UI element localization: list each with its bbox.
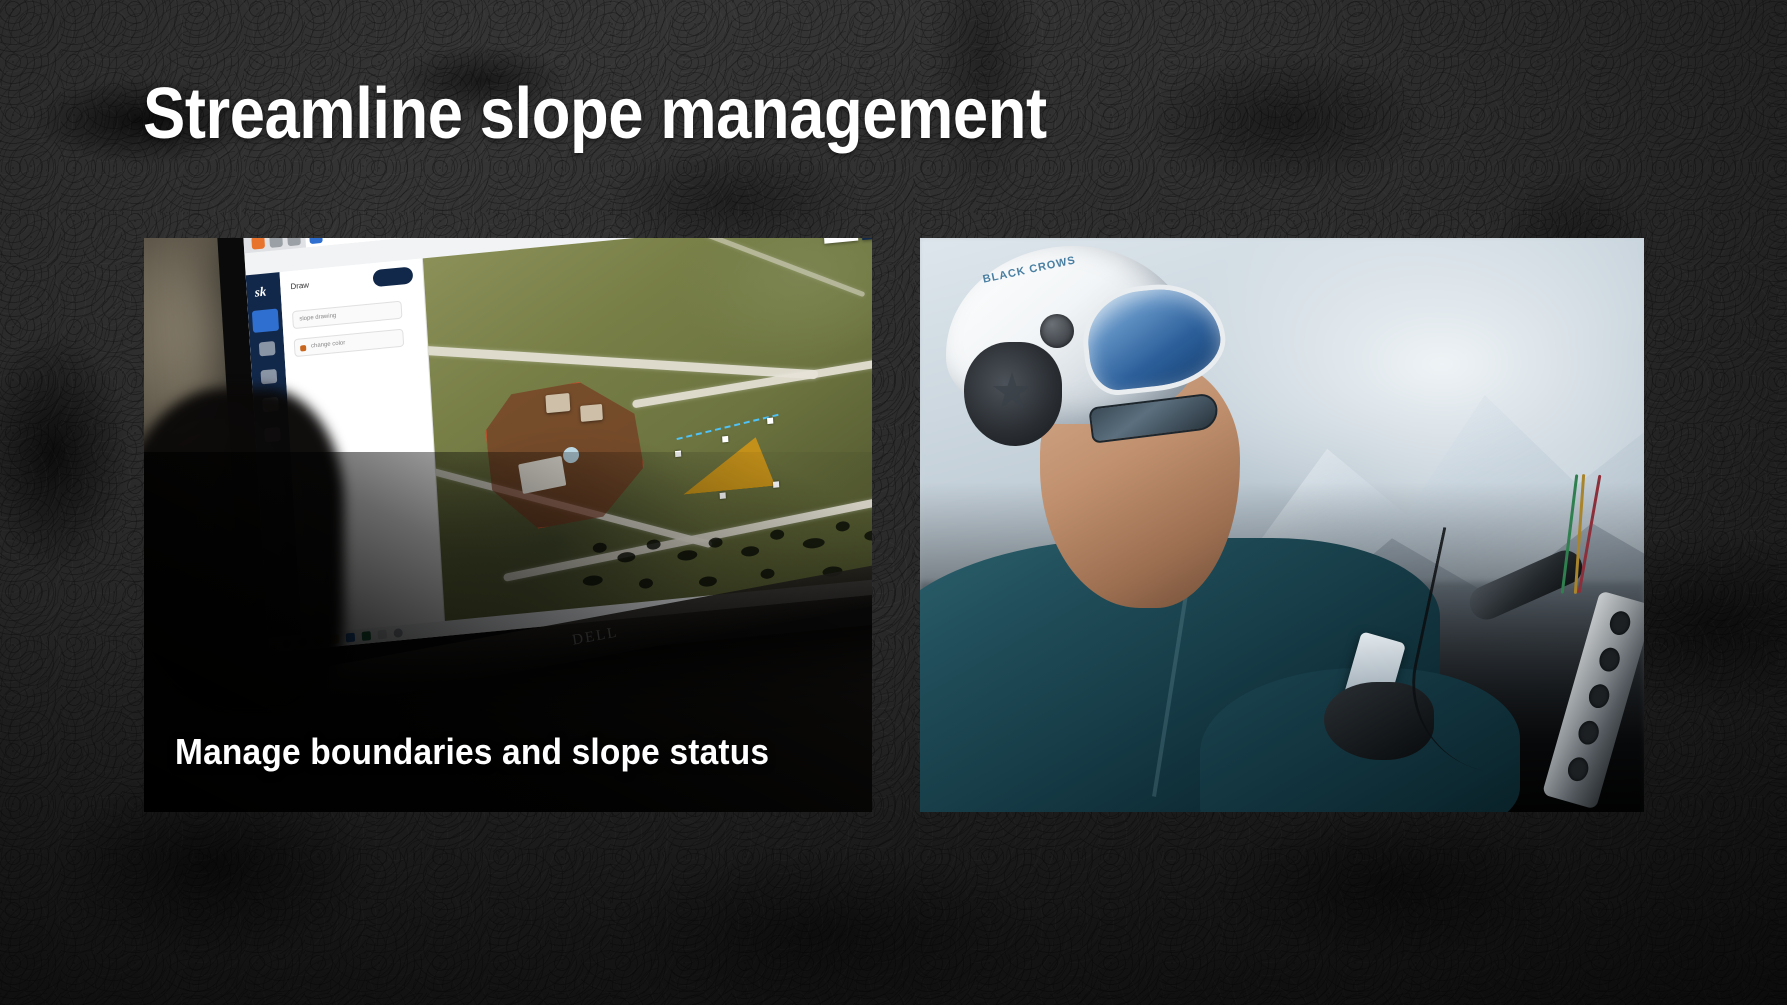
laptop-map-photo: ikadi × + ← https://ikadi.digital [144, 238, 872, 812]
footer: Overview / object editor / streamline sl… [0, 855, 1787, 1005]
draw-panel-title: Draw [290, 280, 309, 291]
panel-row-1-label: slope drawing [299, 313, 336, 323]
cab-wires [1564, 474, 1634, 594]
app-logo: sk [254, 284, 266, 301]
card-manage-boundaries[interactable]: ikadi × + ← https://ikadi.digital [144, 238, 872, 812]
page-title: Streamline slope management [143, 78, 1047, 150]
rail-cloud-icon[interactable] [259, 341, 276, 357]
slope-area[interactable] [681, 436, 776, 495]
helmet-ear-pad [964, 342, 1062, 446]
visor-hinge [1040, 314, 1074, 348]
rail-home-icon[interactable] [252, 309, 279, 333]
map-layers-button[interactable] [823, 238, 858, 244]
card-caption-manage-boundaries: Manage boundaries and slope status [175, 731, 769, 773]
panel-row-change-color[interactable]: change color [294, 329, 405, 358]
map-controls[interactable] [823, 238, 872, 244]
rail-vehicle-icon[interactable] [260, 369, 277, 385]
foreground-silhouette [144, 388, 344, 718]
panel-row-2-label: change color [311, 340, 346, 349]
slide-root: Streamline slope management i [0, 0, 1787, 1005]
color-swatch[interactable] [300, 345, 306, 352]
map-measure-button[interactable] [861, 238, 872, 240]
card-viewable-by-operators[interactable]: BLACK CROWS Vi [920, 238, 1644, 812]
card-grid: ikadi × + ← https://ikadi.digital [144, 238, 1644, 812]
apply-button[interactable] [373, 266, 414, 287]
satellite-map[interactable] [423, 238, 872, 636]
operator-photo: BLACK CROWS [920, 238, 1644, 812]
panel-row-slope-drawing[interactable]: slope drawing [292, 301, 403, 330]
